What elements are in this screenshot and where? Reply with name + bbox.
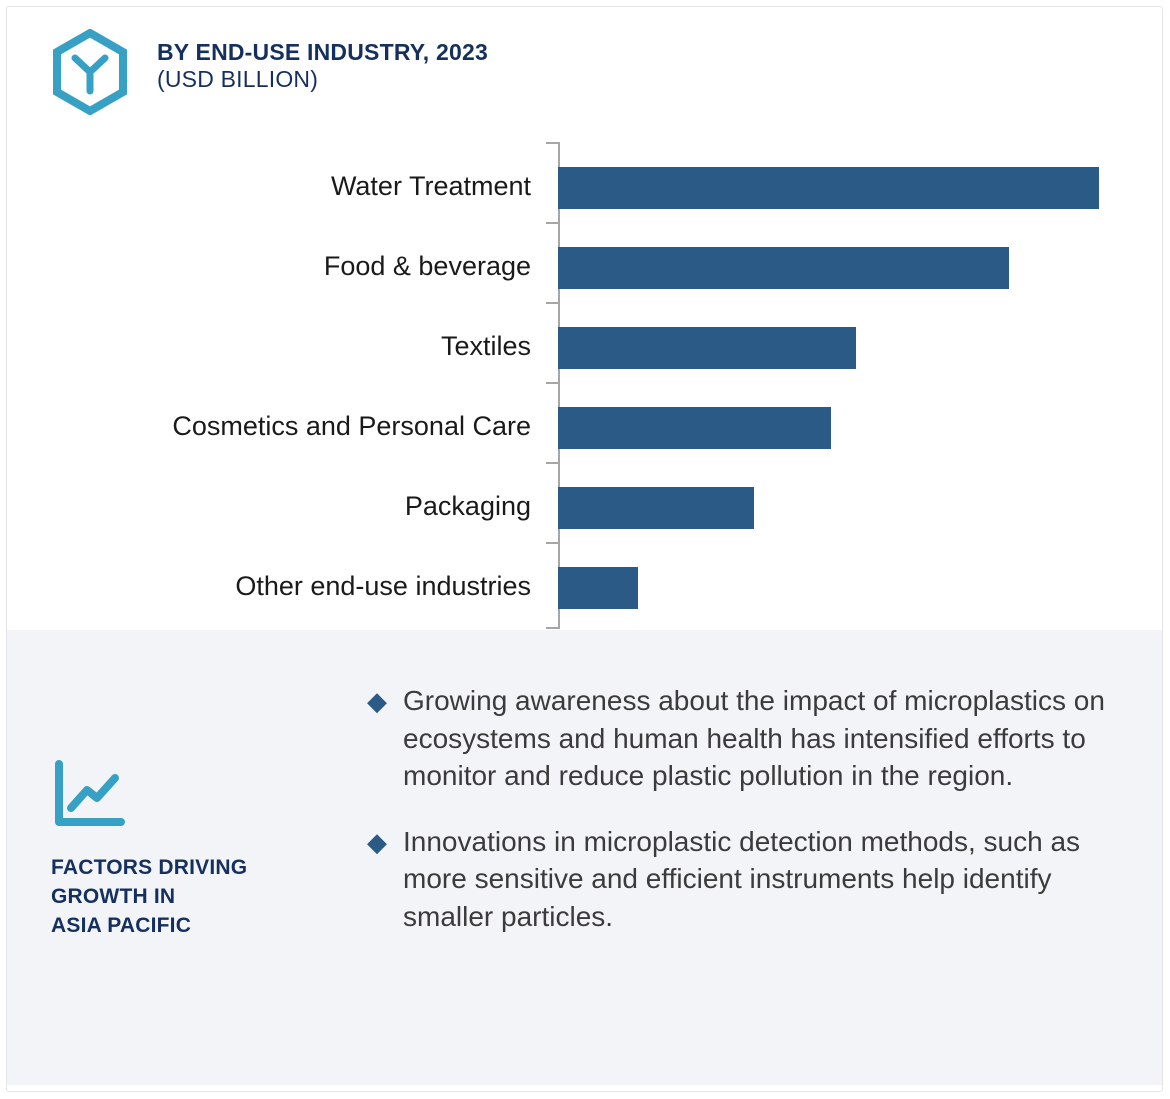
panel-left-column: FACTORS DRIVING GROWTH IN ASIA PACIFIC (51, 760, 351, 941)
header: BY END-USE INDUSTRY, 2023 (USD BILLION) (7, 7, 1162, 127)
category-label: Water Treatment (11, 171, 531, 202)
panel-heading-line: ASIA PACIFIC (51, 912, 351, 941)
factors-panel: FACTORS DRIVING GROWTH IN ASIA PACIFIC ◆… (7, 630, 1162, 1085)
axis-tick (546, 382, 558, 384)
diamond-bullet-icon: ◆ (367, 684, 387, 719)
list-item: ◆ Growing awareness about the impact of … (363, 682, 1135, 795)
panel-bullet-list: ◆ Growing awareness about the impact of … (363, 682, 1135, 935)
diamond-bullet-icon: ◆ (367, 825, 387, 860)
bar-cosmetics-personal-care[interactable] (558, 407, 831, 449)
list-item-text: Innovations in microplastic detection me… (403, 826, 1080, 932)
category-label: Cosmetics and Personal Care (11, 411, 531, 442)
category-label: Food & beverage (11, 251, 531, 282)
list-item: ◆ Innovations in microplastic detection … (363, 823, 1135, 936)
category-axis-labels: Water Treatment Food & beverage Textiles… (7, 129, 531, 629)
page-title: BY END-USE INDUSTRY, 2023 (157, 39, 488, 66)
list-item-text: Growing awareness about the impact of mi… (403, 685, 1105, 791)
category-label: Packaging (11, 491, 531, 522)
title-block: BY END-USE INDUSTRY, 2023 (USD BILLION) (157, 39, 488, 93)
axis-tick (546, 627, 558, 629)
bar-food-beverage[interactable] (558, 247, 1009, 289)
axis-tick (546, 462, 558, 464)
bar-other-end-use-industries[interactable] (558, 567, 638, 609)
panel-heading: FACTORS DRIVING GROWTH IN ASIA PACIFIC (51, 854, 351, 941)
y-axis-line (558, 142, 560, 629)
page-subtitle: (USD BILLION) (157, 66, 488, 93)
category-label: Other end-use industries (11, 571, 531, 602)
infographic-card: BY END-USE INDUSTRY, 2023 (USD BILLION) … (6, 6, 1163, 1092)
axis-tick (546, 222, 558, 224)
bar-water-treatment[interactable] (558, 167, 1099, 209)
hexagon-y-logo-icon (47, 29, 133, 115)
category-label: Textiles (11, 331, 531, 362)
axis-tick (546, 302, 558, 304)
panel-heading-line: FACTORS DRIVING (51, 854, 351, 883)
bar-packaging[interactable] (558, 487, 754, 529)
axis-tick (546, 542, 558, 544)
panel-heading-line: GROWTH IN (51, 883, 351, 912)
axis-tick (546, 142, 558, 144)
bar-chart: Water Treatment Food & beverage Textiles… (7, 129, 1162, 629)
bar-textiles[interactable] (558, 327, 856, 369)
line-chart-icon (51, 760, 127, 832)
